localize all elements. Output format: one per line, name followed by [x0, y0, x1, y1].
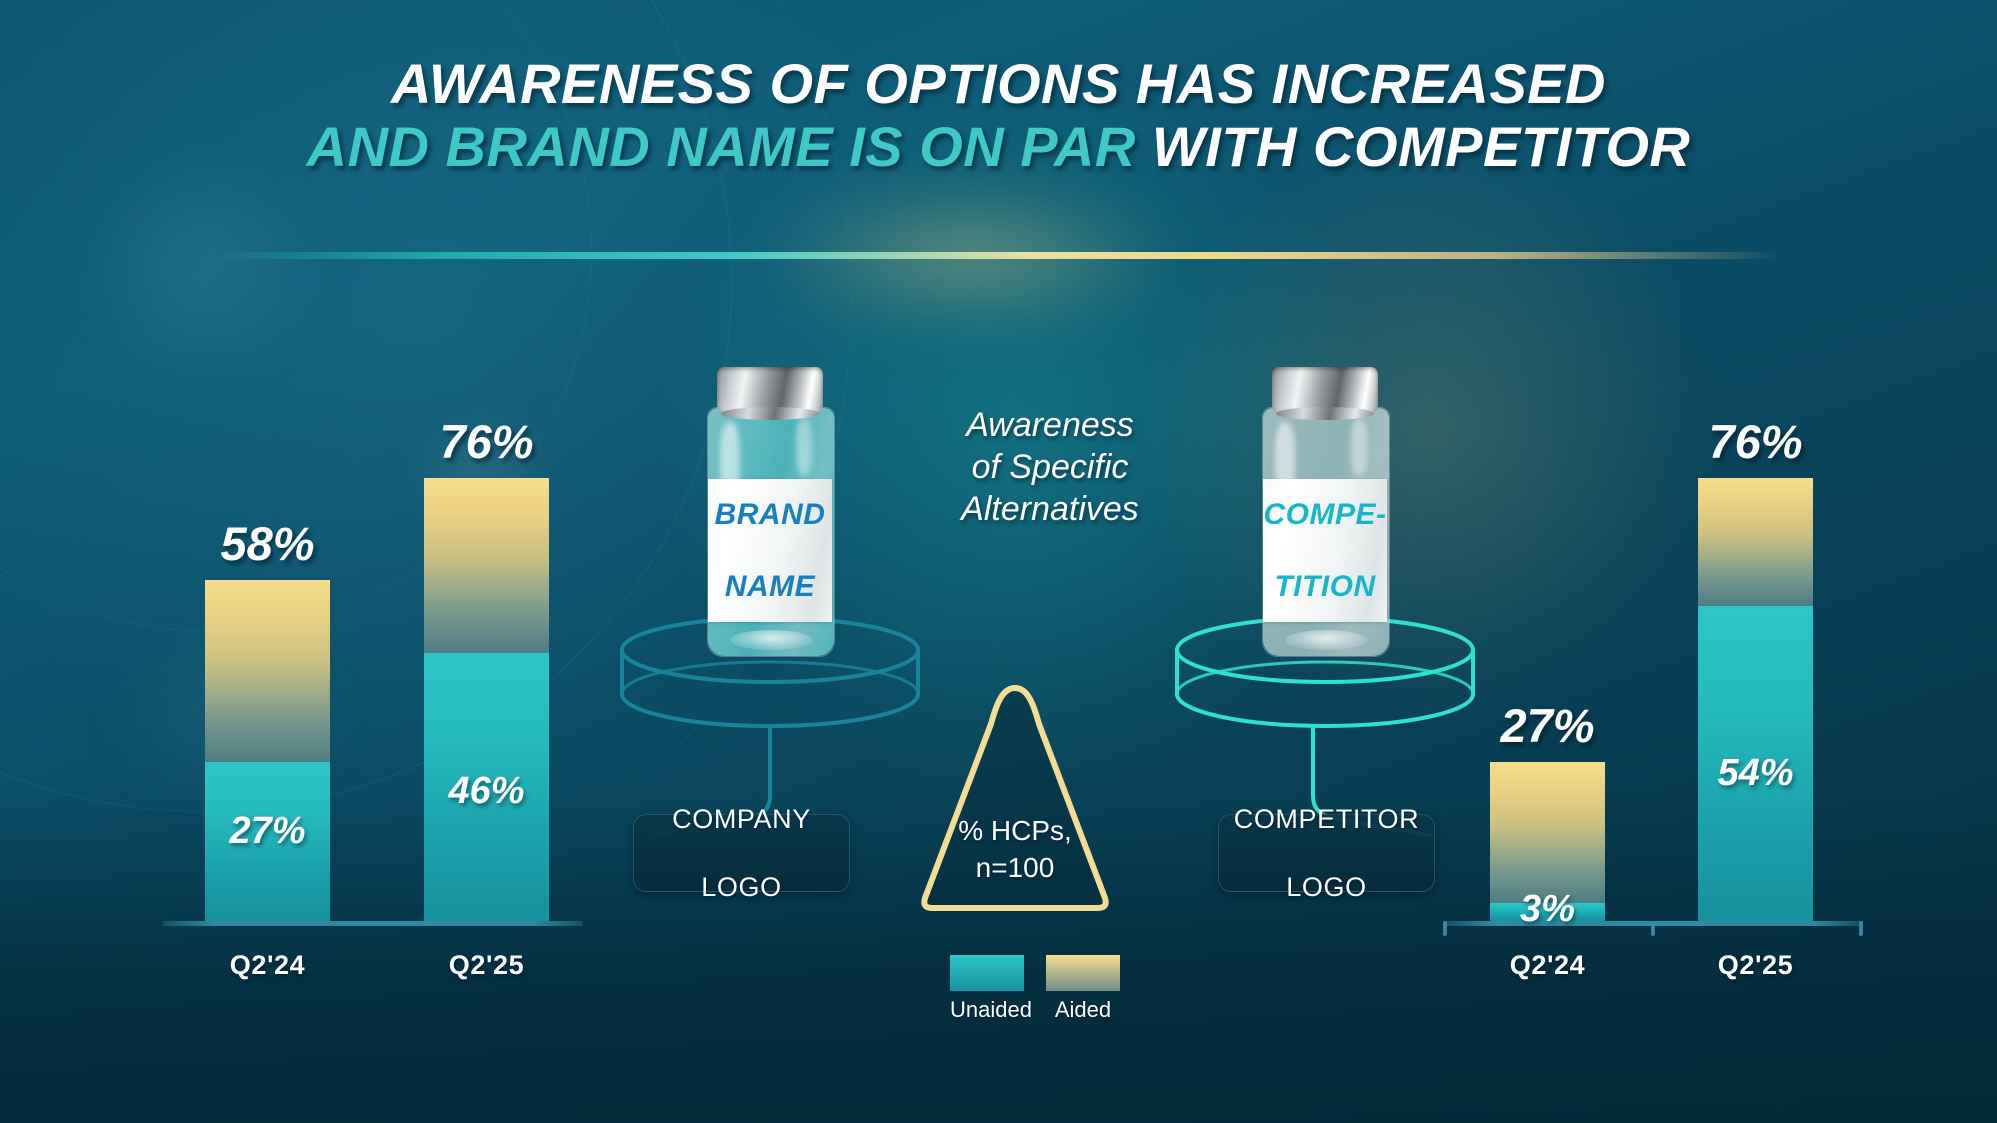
legend-swatch-unaided — [950, 955, 1024, 991]
vial-gloss — [1351, 418, 1367, 476]
company-logo-line-2: LOGO — [672, 870, 811, 904]
center-caption: Awareness of Specific Alternatives — [920, 404, 1180, 530]
chart-legend: Unaided Aided — [920, 955, 1150, 1023]
infographic-slide: AWARENESS OF OPTIONS HAS INCREASED AND B… — [0, 0, 1997, 1123]
legend-labels: Unaided Aided — [920, 997, 1150, 1023]
vial-cap — [717, 367, 823, 413]
competitor-vial: COMPE- TITION — [1250, 367, 1400, 657]
brand-vial-line-1: BRAND — [715, 497, 826, 533]
competitor-logo-line-2: LOGO — [1234, 870, 1420, 904]
competitor-logo-line-1: COMPETITOR — [1234, 802, 1420, 836]
competitor-logo-placeholder[interactable]: COMPETITOR LOGO — [1218, 814, 1435, 892]
vial-label-brand: BRAND NAME — [708, 479, 832, 622]
triangle-line-1: % HCPs, — [930, 812, 1100, 849]
center-caption-line-1: Awareness — [920, 404, 1180, 446]
competitor-vial-line-1: COMPE- — [1264, 497, 1387, 533]
brand-vial-line-2: NAME — [715, 569, 826, 605]
legend-swatches — [920, 955, 1150, 991]
legend-label-aided: Aided — [1046, 997, 1120, 1023]
competitor-vial-line-2: TITION — [1264, 569, 1387, 605]
triangle-line-2: n=100 — [930, 849, 1100, 886]
vial-cap — [1272, 367, 1378, 413]
vial-label-competitor: COMPE- TITION — [1263, 479, 1387, 622]
company-logo-placeholder[interactable]: COMPANY LOGO — [633, 814, 850, 892]
center-caption-line-3: Alternatives — [920, 488, 1180, 530]
company-logo-line-1: COMPANY — [672, 802, 811, 836]
center-caption-line-2: of Specific — [920, 446, 1180, 488]
vial-base — [1285, 630, 1367, 650]
triangle-text: % HCPs, n=100 — [930, 812, 1100, 886]
legend-swatch-aided — [1046, 955, 1120, 991]
brand-vial: BRAND NAME — [695, 367, 845, 657]
vial-base — [730, 630, 812, 650]
legend-label-unaided: Unaided — [950, 997, 1024, 1023]
vial-gloss — [796, 418, 812, 476]
